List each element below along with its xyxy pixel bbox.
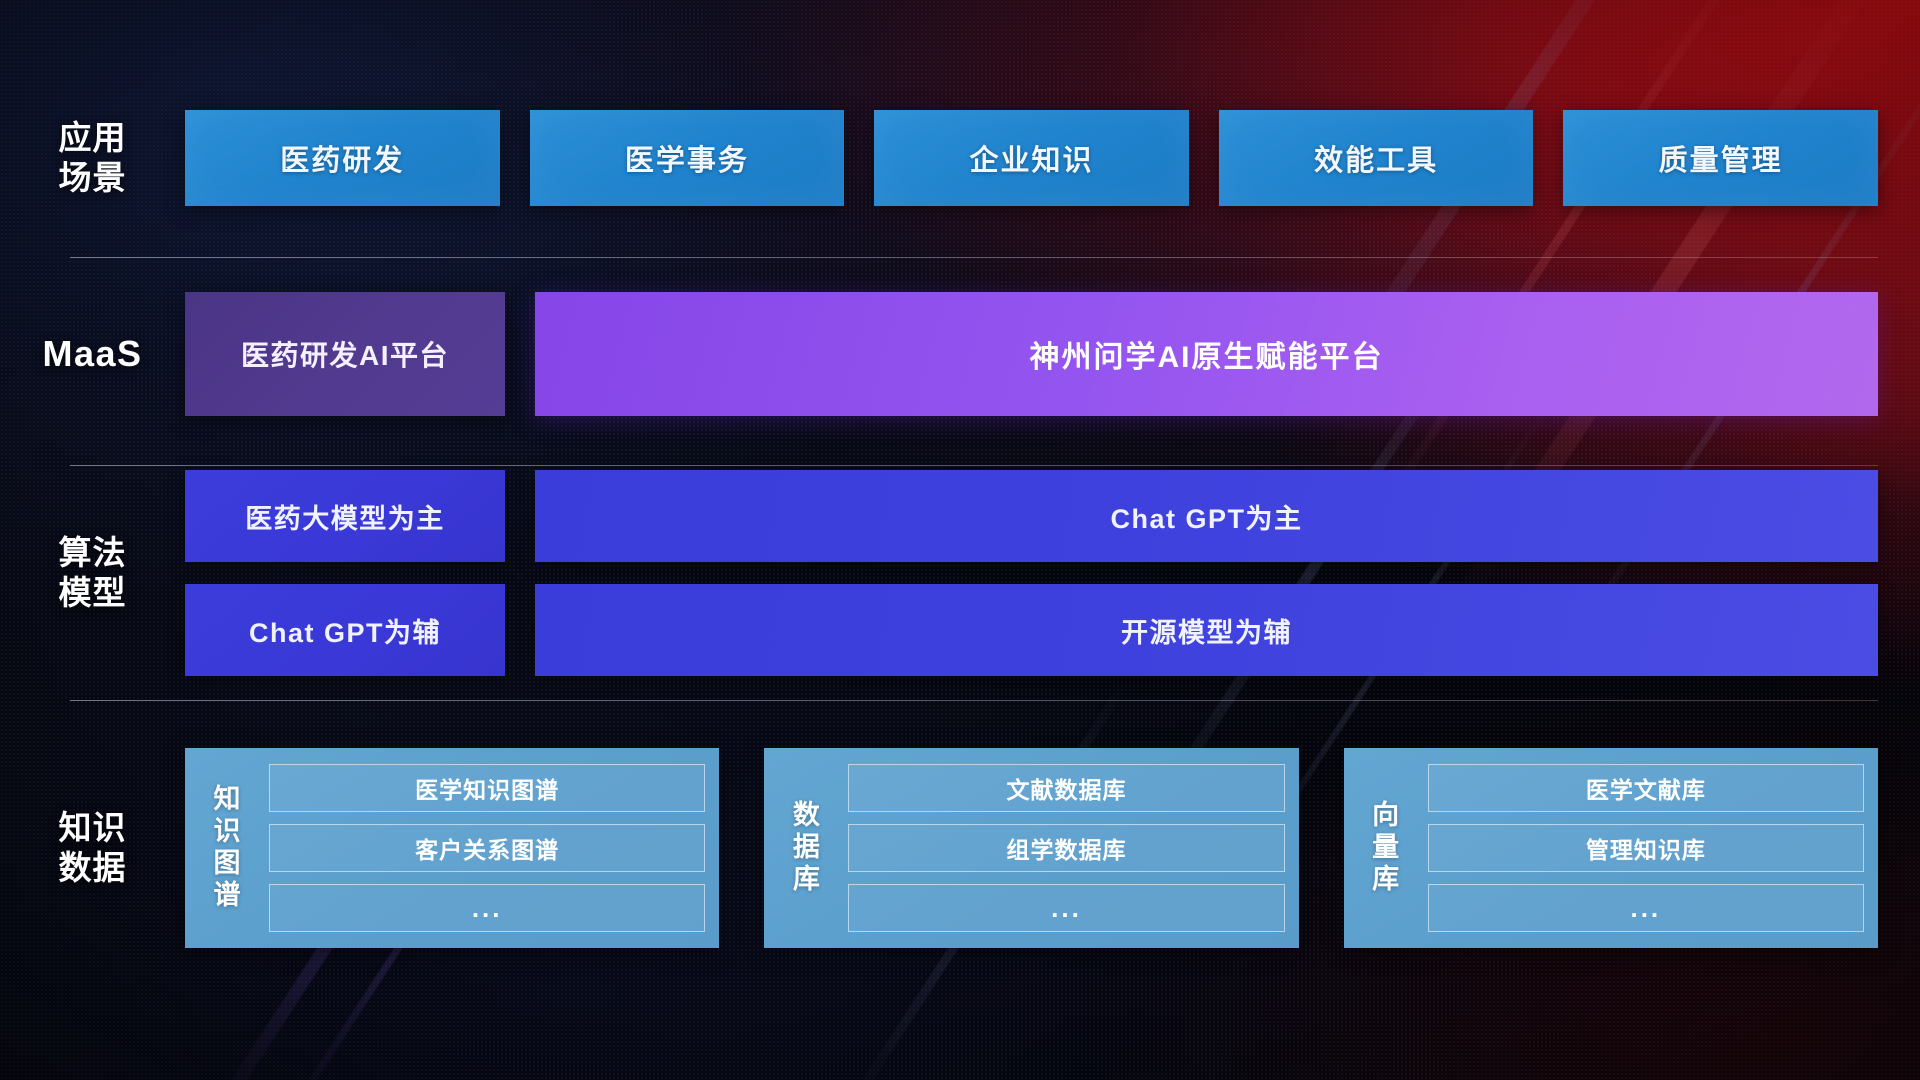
- row-body-knowledge-data: 知 识 图 谱 医学知识图谱 客户关系图谱 ... 数 据 库 文献数据库 组学…: [185, 748, 1920, 948]
- algorithm-box-chatgpt-primary[interactable]: Chat GPT为主: [535, 470, 1878, 562]
- knowledge-item-more-ellipsis[interactable]: ...: [1428, 884, 1864, 932]
- scenario-box-efficiency-tools[interactable]: 效能工具: [1219, 110, 1534, 206]
- knowledge-group-title-database: 数 据 库: [774, 800, 838, 896]
- knowledge-item-medical-knowledge-graph[interactable]: 医学知识图谱: [269, 764, 705, 812]
- knowledge-group-knowledge-graph[interactable]: 知 识 图 谱 医学知识图谱 客户关系图谱 ...: [185, 748, 719, 948]
- knowledge-item-list: 医学文献库 管理知识库 ...: [1418, 764, 1864, 932]
- knowledge-group-title-knowledge-graph: 知 识 图 谱: [195, 784, 259, 911]
- algorithm-box-chatgpt-secondary[interactable]: Chat GPT为辅: [185, 584, 505, 676]
- scenario-box-quality-management[interactable]: 质量管理: [1563, 110, 1878, 206]
- algorithm-box-opensource-secondary[interactable]: 开源模型为辅: [535, 584, 1878, 676]
- knowledge-group-title-vector-store: 向 量 库: [1354, 800, 1418, 896]
- maas-box-drug-rd-ai-platform[interactable]: 医药研发AI平台: [185, 292, 505, 416]
- row-body-application-scenarios: 医药研发 医学事务 企业知识 效能工具 质量管理: [185, 110, 1920, 206]
- row-label-application-scenarios: 应用 场景: [0, 118, 185, 199]
- scenario-box-track: 医药研发 医学事务 企业知识 效能工具 质量管理: [185, 110, 1920, 206]
- knowledge-item-more-ellipsis[interactable]: ...: [848, 884, 1284, 932]
- knowledge-item-list: 医学知识图谱 客户关系图谱 ...: [259, 764, 705, 932]
- knowledge-group-vector-store[interactable]: 向 量 库 医学文献库 管理知识库 ...: [1344, 748, 1878, 948]
- knowledge-group-track: 知 识 图 谱 医学知识图谱 客户关系图谱 ... 数 据 库 文献数据库 组学…: [185, 748, 1920, 948]
- row-label-algorithm-models: 算法 模型: [0, 533, 185, 614]
- knowledge-item-medical-literature-store[interactable]: 医学文献库: [1428, 764, 1864, 812]
- divider-after-maas: [70, 465, 1878, 466]
- algorithm-row-primary: 医药大模型为主 Chat GPT为主: [185, 470, 1878, 562]
- algorithm-box-pharma-llm-primary[interactable]: 医药大模型为主: [185, 470, 505, 562]
- row-maas: MaaS 医药研发AI平台 神州问学AI原生赋能平台: [0, 292, 1920, 416]
- knowledge-item-customer-relation-graph[interactable]: 客户关系图谱: [269, 824, 705, 872]
- row-label-knowledge-data: 知识 数据: [0, 808, 185, 889]
- maas-box-shenzhou-wenxue-platform[interactable]: 神州问学AI原生赋能平台: [535, 292, 1878, 416]
- scenario-box-medical-affairs[interactable]: 医学事务: [530, 110, 845, 206]
- row-application-scenarios: 应用 场景 医药研发 医学事务 企业知识 效能工具 质量管理: [0, 110, 1920, 206]
- row-knowledge-data: 知识 数据 知 识 图 谱 医学知识图谱 客户关系图谱 ... 数 据 库 文献…: [0, 728, 1920, 968]
- knowledge-item-literature-database[interactable]: 文献数据库: [848, 764, 1284, 812]
- algorithm-box-stack: 医药大模型为主 Chat GPT为主 Chat GPT为辅 开源模型为辅: [185, 470, 1920, 676]
- knowledge-item-management-knowledge-store[interactable]: 管理知识库: [1428, 824, 1864, 872]
- scenario-box-enterprise-knowledge[interactable]: 企业知识: [874, 110, 1189, 206]
- knowledge-item-list: 文献数据库 组学数据库 ...: [838, 764, 1284, 932]
- knowledge-item-more-ellipsis[interactable]: ...: [269, 884, 705, 932]
- architecture-diagram: 应用 场景 医药研发 医学事务 企业知识 效能工具 质量管理 MaaS 医药研发…: [0, 0, 1920, 1080]
- divider-after-scenarios: [70, 257, 1878, 258]
- maas-box-track: 医药研发AI平台 神州问学AI原生赋能平台: [185, 292, 1920, 416]
- divider-after-algorithms: [70, 700, 1878, 701]
- knowledge-group-database[interactable]: 数 据 库 文献数据库 组学数据库 ...: [764, 748, 1298, 948]
- scenario-box-drug-rd[interactable]: 医药研发: [185, 110, 500, 206]
- row-body-algorithm-models: 医药大模型为主 Chat GPT为主 Chat GPT为辅 开源模型为辅: [185, 470, 1920, 676]
- knowledge-item-omics-database[interactable]: 组学数据库: [848, 824, 1284, 872]
- row-algorithm-models: 算法 模型 医药大模型为主 Chat GPT为主 Chat GPT为辅 开源模型…: [0, 470, 1920, 676]
- algorithm-row-secondary: Chat GPT为辅 开源模型为辅: [185, 584, 1878, 676]
- row-body-maas: 医药研发AI平台 神州问学AI原生赋能平台: [185, 292, 1920, 416]
- row-label-maas: MaaS: [0, 332, 185, 376]
